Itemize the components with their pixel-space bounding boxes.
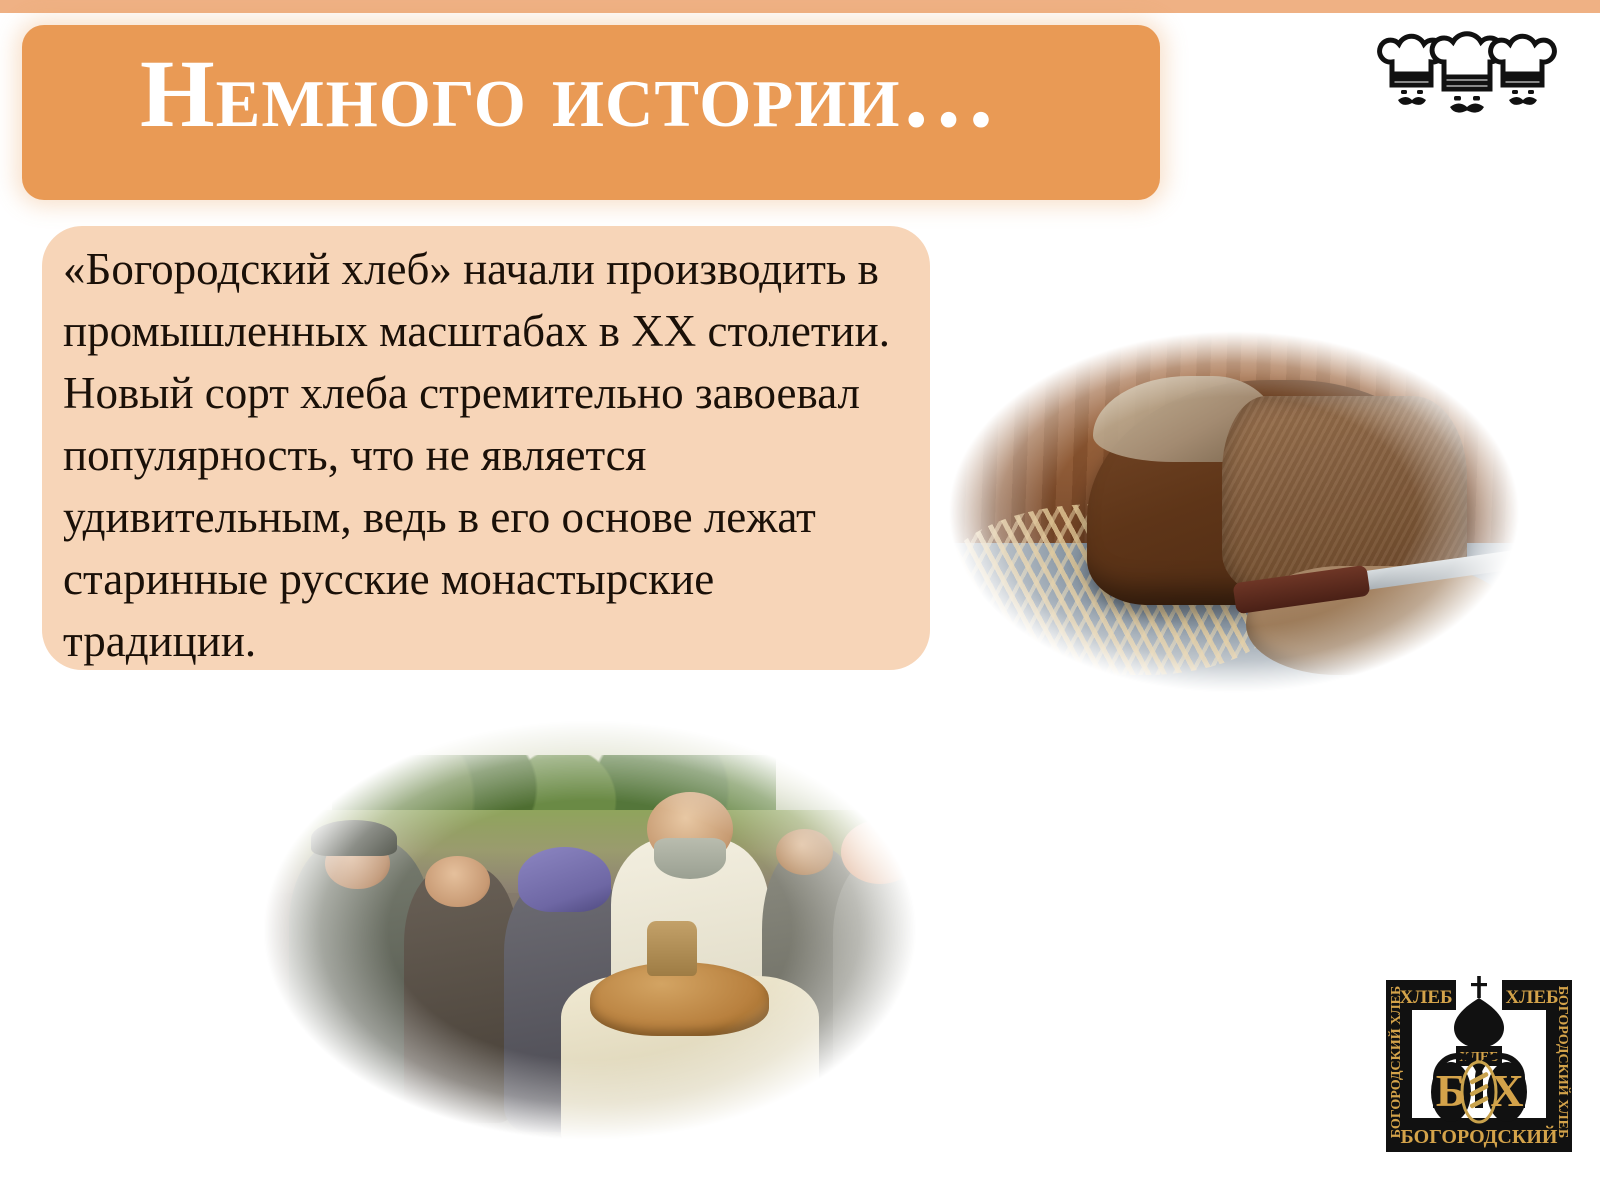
bread-scene [928,318,1540,706]
logo-top-right-word: ХЛЕБ [1505,987,1558,1008]
painting-cap [311,820,397,857]
painting-head-right-2 [841,820,920,884]
logo-monogram-h: Х [1490,1065,1523,1116]
page-title: Немного истории… [140,42,1120,146]
painting-headscarf [518,847,611,911]
logo-right-side-word: БОГОРОДСКИЙ ХЛЕБ [1555,986,1572,1138]
painting-head-woman-1 [425,856,489,907]
logo-left-side-word: БОГОРОДСКИЙ ХЛЕБ [1387,986,1404,1138]
body-text: «Богородский хлеб» начали производить в … [63,238,903,672]
painting-head-right-1 [776,829,833,875]
top-accent-strip [0,0,1600,13]
logo-bottom-word: БОГОРОДСКИЙ [1401,1125,1558,1148]
rye-bread-photo [928,318,1540,706]
bread-and-salt-painting [232,700,948,1160]
chef-hats-icon [1372,22,1562,122]
bogorodsky-hleb-logo: ХЛЕБ ХЛЕБ ХЛЕБ Б Х БОГОРОДСКИЙ БОГОРОДСК… [1378,958,1580,1160]
logo-top-left-word: ХЛЕБ [1399,987,1452,1008]
painting-figure-right-2 [833,856,948,1123]
logo-monogram-b: Б [1436,1065,1466,1116]
painting-salt-cellar [647,921,697,976]
